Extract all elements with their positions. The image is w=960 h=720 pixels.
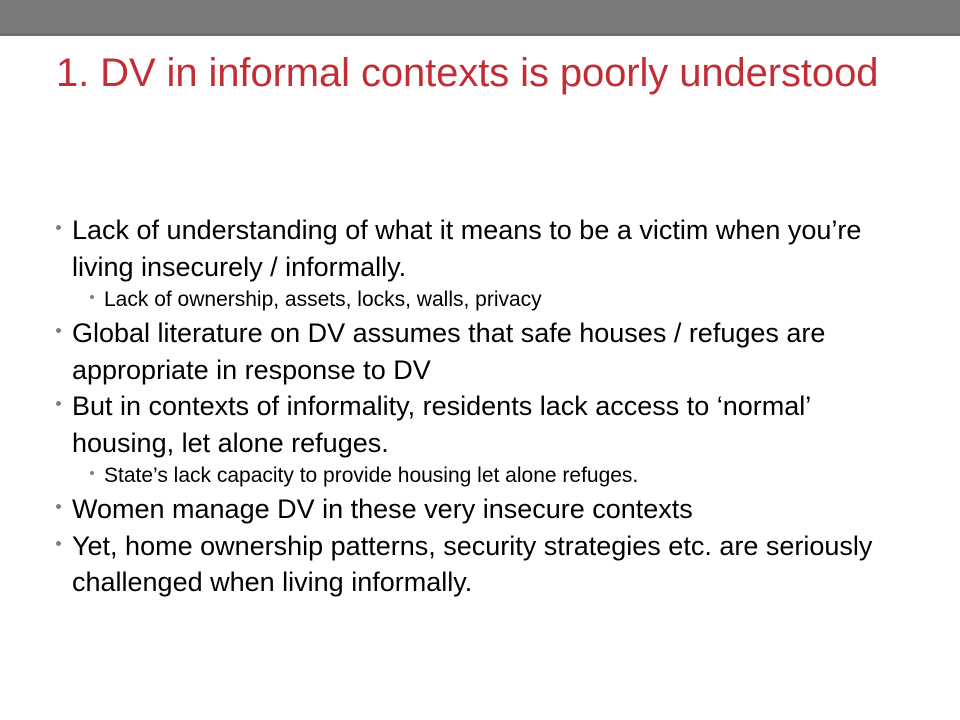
bullet-dot-icon — [56, 504, 61, 509]
bullet-text: Yet, home ownership patterns, security s… — [72, 528, 912, 601]
bullet-dot-icon — [56, 401, 61, 406]
bullet-dot-icon — [90, 295, 94, 299]
bullet-item: State’s lack capacity to provide housing… — [0, 461, 960, 491]
bullet-dot-icon — [56, 328, 61, 333]
bullet-item: Lack of ownership, assets, locks, walls,… — [0, 285, 960, 315]
bullet-text: Women manage DV in these very insecure c… — [72, 491, 912, 528]
bullet-item: Global literature on DV assumes that saf… — [0, 315, 960, 388]
slide-body: Lack of understanding of what it means t… — [0, 212, 960, 601]
bullet-point-icon — [56, 388, 72, 406]
bullet-point-icon — [90, 461, 104, 475]
bullet-item: Yet, home ownership patterns, security s… — [0, 528, 960, 601]
bullet-text: Lack of ownership, assets, locks, walls,… — [104, 285, 912, 315]
bullet-dot-icon — [90, 471, 94, 475]
slide: 1. DV in informal contexts is poorly und… — [0, 0, 960, 720]
bullet-point-icon — [56, 491, 72, 509]
slide-top-banner — [0, 0, 960, 33]
bullet-item: Lack of understanding of what it means t… — [0, 212, 960, 285]
slide-title-block: 1. DV in informal contexts is poorly und… — [56, 50, 916, 97]
bullet-point-icon — [56, 212, 72, 230]
bullet-text: State’s lack capacity to provide housing… — [104, 461, 912, 491]
bullet-item: But in contexts of informality, resident… — [0, 388, 960, 461]
bullet-item: Women manage DV in these very insecure c… — [0, 491, 960, 528]
bullet-text: But in contexts of informality, resident… — [72, 388, 912, 461]
bullet-dot-icon — [56, 225, 61, 230]
bullet-point-icon — [56, 528, 72, 546]
bullet-dot-icon — [56, 541, 61, 546]
bullet-point-icon — [90, 285, 104, 299]
slide-top-banner-edge — [0, 33, 960, 36]
bullet-text: Lack of understanding of what it means t… — [72, 212, 912, 285]
bullet-text: Global literature on DV assumes that saf… — [72, 315, 912, 388]
bullet-point-icon — [56, 315, 72, 333]
page-title: 1. DV in informal contexts is poorly und… — [56, 50, 916, 97]
